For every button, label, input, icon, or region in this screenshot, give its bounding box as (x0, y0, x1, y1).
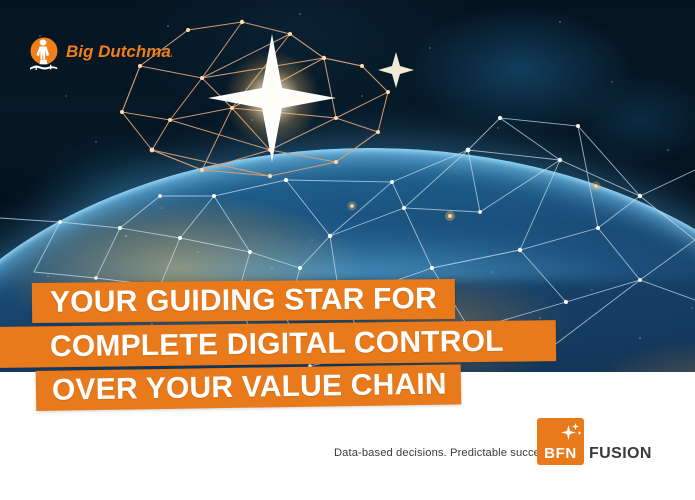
bfn-badge-text: BFN (540, 446, 581, 461)
footer-tagline: Data-based decisions. Predictable succes… (334, 447, 555, 459)
bfn-fusion-logo: BFN FUSION (537, 418, 685, 466)
headline-bar-1: YOUR GUIDING STAR FOR (32, 279, 455, 323)
headline-bar-2: COMPLETE DIGITAL CONTROL (0, 320, 556, 368)
headline-line-3: OVER YOUR VALUE CHAIN (52, 370, 447, 406)
headline-line-2: COMPLETE DIGITAL CONTROL (50, 326, 504, 362)
sparkle-stars-icon (559, 420, 583, 444)
marketing-poster: Big Dutchman. YOUR GUIDING STAR FOR COMP… (0, 0, 695, 500)
headline-bar-3: OVER YOUR VALUE CHAIN (36, 364, 462, 411)
headline-line-1: YOUR GUIDING STAR FOR (50, 284, 437, 318)
fusion-wordmark: FUSION (589, 446, 652, 462)
